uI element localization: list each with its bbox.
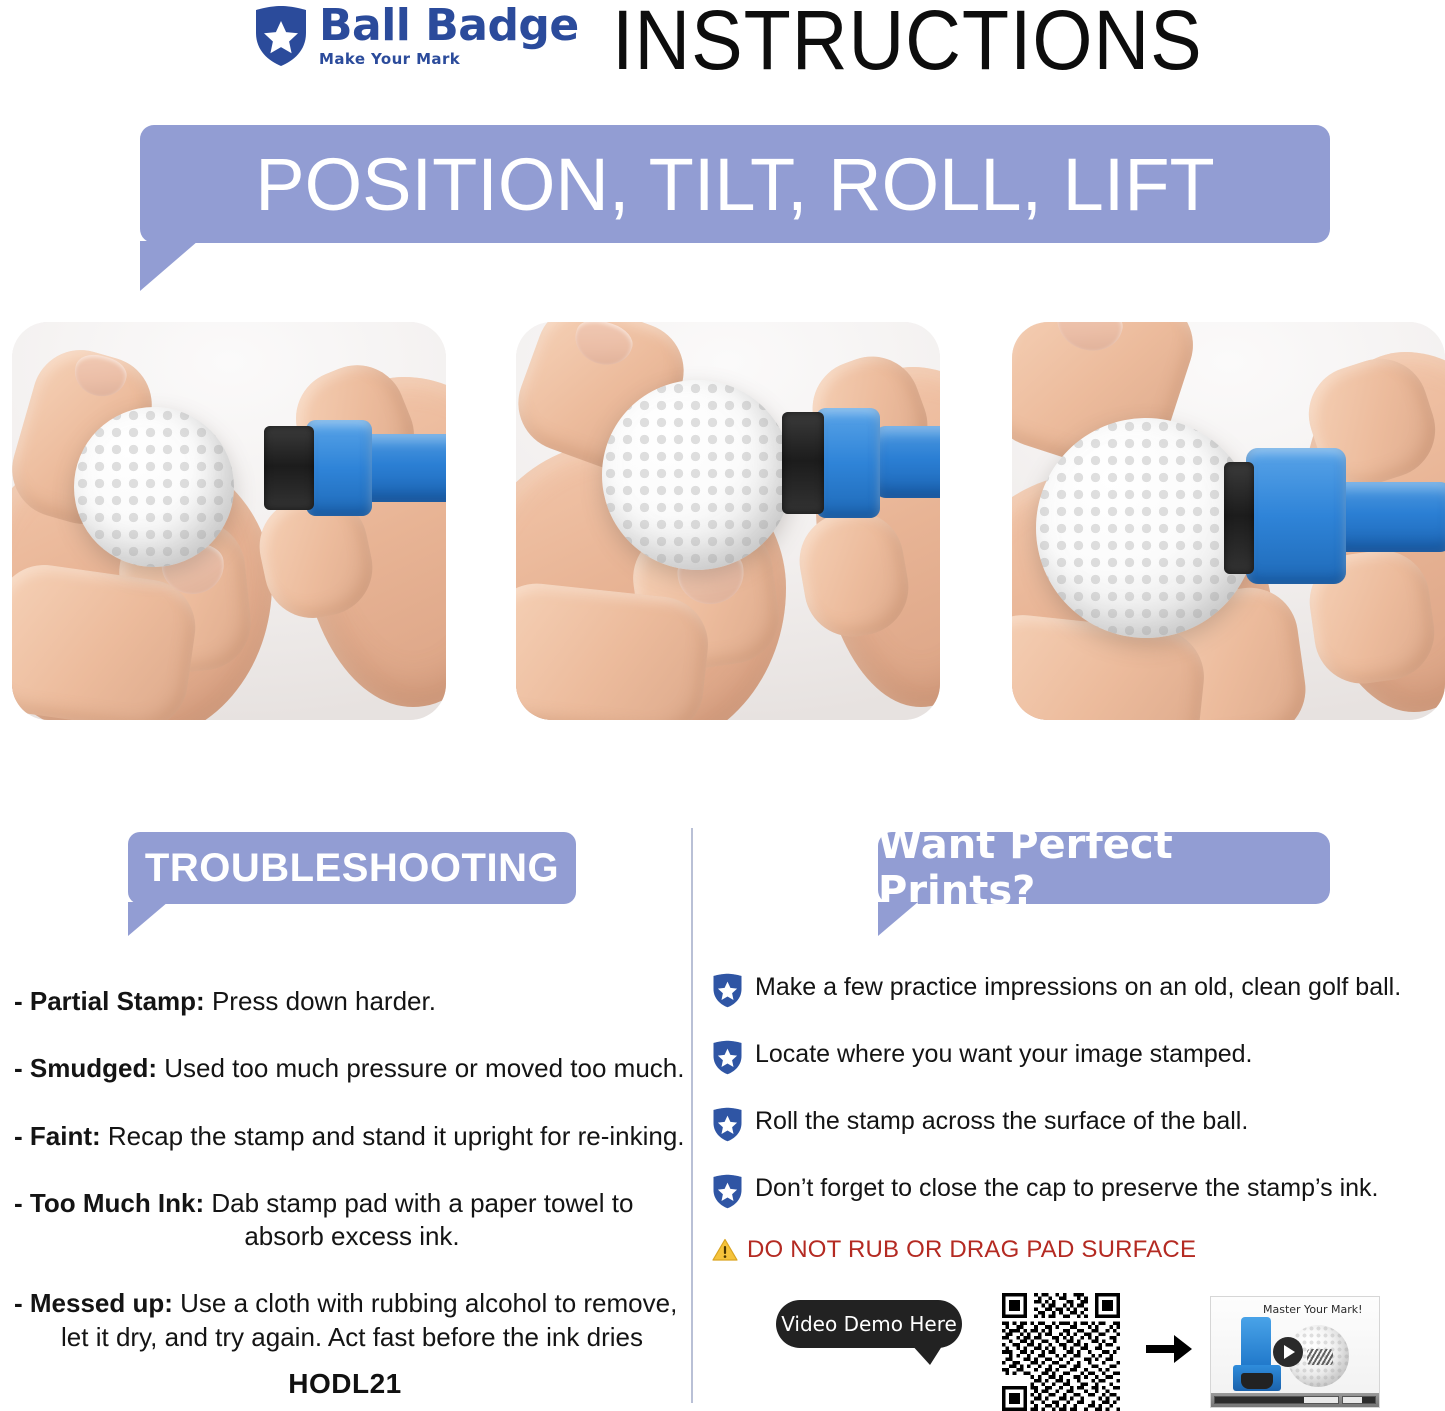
- troubleshooting-banner: TROUBLESHOOTING: [128, 832, 576, 904]
- tip-text: Roll the stamp across the surface of the…: [755, 1106, 1248, 1136]
- main-step-banner: POSITION, TILT, ROLL, LIFT: [140, 125, 1330, 243]
- stamp-head: [1246, 448, 1346, 584]
- list-item: - Partial Stamp: Press down harder.: [0, 985, 690, 1018]
- list-item: - Too Much Ink: Dab stamp pad with a pap…: [0, 1187, 690, 1254]
- list-item: - Smudged: Used too much pressure or mov…: [0, 1052, 690, 1085]
- stamp-handle: [1332, 482, 1445, 552]
- list-item: Make a few practice impressions on an ol…: [712, 972, 1445, 1008]
- thumbnail-ball-mark: [1307, 1349, 1333, 1365]
- troubleshooting-label: - Messed up:: [14, 1288, 173, 1318]
- brand-name: Ball Badge: [319, 4, 579, 48]
- bubble-tail: [910, 1343, 944, 1365]
- video-demo-bubble[interactable]: Video Demo Here: [776, 1300, 962, 1348]
- shield-star-icon: [712, 1040, 743, 1075]
- video-demo-label: Video Demo Here: [781, 1312, 957, 1336]
- tip-text: Make a few practice impressions on an ol…: [755, 972, 1401, 1002]
- tips-list: Make a few practice impressions on an ol…: [712, 972, 1445, 1264]
- banner-tail: [140, 241, 198, 291]
- troubleshooting-label: - Partial Stamp:: [14, 986, 205, 1016]
- list-item: Don’t forget to close the cap to preserv…: [712, 1173, 1445, 1209]
- list-item: Locate where you want your image stamped…: [712, 1039, 1445, 1075]
- troubleshooting-list: - Partial Stamp: Press down harder. - Sm…: [0, 985, 690, 1388]
- video-progress-track[interactable]: [1214, 1396, 1339, 1404]
- shield-star-icon: [712, 973, 743, 1008]
- video-thumbnail-title: Master Your Mark!: [1263, 1303, 1363, 1316]
- list-item: Roll the stamp across the surface of the…: [712, 1106, 1445, 1142]
- golf-ball: [74, 407, 234, 567]
- list-item: - Faint: Recap the stamp and stand it up…: [0, 1120, 690, 1153]
- stamp-ink-pad: [1224, 462, 1254, 574]
- golf-ball: [602, 380, 792, 570]
- brand-logo: Ball Badge Make Your Mark: [253, 4, 579, 67]
- troubleshooting-text: Use a cloth with rubbing alcohol to remo…: [173, 1288, 677, 1318]
- troubleshooting-text: Used too much pressure or moved too much…: [157, 1053, 684, 1083]
- warning-triangle-icon: [712, 1238, 738, 1262]
- video-scrub-bar[interactable]: [1211, 1393, 1379, 1407]
- troubleshooting-text-continued: let it dry, and try again. Act fast befo…: [61, 1322, 643, 1352]
- qr-code[interactable]: [1002, 1293, 1120, 1411]
- page-title: INSTRUCTIONS: [612, 0, 1203, 89]
- thumbnail-stamp-body: [1241, 1317, 1271, 1369]
- page-header: Ball Badge Make Your Mark INSTRUCTIONS: [0, 0, 1445, 95]
- stamp-head: [306, 420, 372, 516]
- troubleshooting-text: Press down harder.: [205, 986, 436, 1016]
- stamp-head: [816, 408, 880, 518]
- tip-text: Locate where you want your image stamped…: [755, 1039, 1253, 1069]
- product-code: HODL21: [0, 1368, 690, 1400]
- main-step-banner-label: POSITION, TILT, ROLL, LIFT: [255, 142, 1214, 227]
- shield-star-icon: [712, 1107, 743, 1142]
- troubleshooting-text: Dab stamp pad with a paper towel to: [204, 1188, 633, 1218]
- troubleshooting-label: - Smudged:: [14, 1053, 157, 1083]
- troubleshooting-heading: TROUBLESHOOTING: [145, 846, 559, 891]
- warning-row: DO NOT RUB OR DRAG PAD SURFACE: [712, 1236, 1445, 1264]
- golf-ball: [1036, 418, 1256, 638]
- troubleshooting-label: - Faint:: [14, 1121, 101, 1151]
- tips-heading: Want Perfect Prints?: [878, 822, 1330, 914]
- troubleshooting-text-continued: absorb excess ink.: [244, 1221, 459, 1251]
- video-demo-row: Video Demo Here: [712, 1290, 1445, 1402]
- shield-star-icon: [712, 1174, 743, 1209]
- banner-tail: [128, 902, 168, 936]
- warning-text: DO NOT RUB OR DRAG PAD SURFACE: [747, 1236, 1196, 1264]
- troubleshooting-label: - Too Much Ink:: [14, 1188, 204, 1218]
- stamp-ink-pad: [782, 412, 824, 514]
- play-button-icon[interactable]: [1273, 1337, 1303, 1367]
- step-photo-3: [1012, 322, 1445, 720]
- tips-banner: Want Perfect Prints?: [878, 832, 1330, 904]
- video-volume-track[interactable]: [1342, 1396, 1376, 1404]
- step-photo-strip: [0, 322, 1445, 720]
- shield-star-icon: [253, 5, 309, 67]
- brand-tagline: Make Your Mark: [319, 52, 579, 67]
- stamp-handle: [874, 426, 940, 498]
- list-item: - Messed up: Use a cloth with rubbing al…: [0, 1287, 690, 1354]
- troubleshooting-text: Recap the stamp and stand it upright for…: [101, 1121, 685, 1151]
- stamp-ink-pad: [264, 426, 314, 510]
- video-thumbnail[interactable]: Master Your Mark!: [1210, 1296, 1380, 1408]
- instruction-sheet: Ball Badge Make Your Mark INSTRUCTIONS P…: [0, 0, 1445, 1407]
- tip-text: Don’t forget to close the cap to preserv…: [755, 1173, 1378, 1203]
- step-photo-1: [12, 322, 446, 720]
- troubleshooting-line: - Too Much Ink: Dab stamp pad with a pap…: [14, 1187, 690, 1220]
- video-arrow-icon: [1144, 1332, 1194, 1366]
- column-divider: [691, 828, 693, 1403]
- banner-tail: [878, 902, 918, 936]
- troubleshooting-line: - Messed up: Use a cloth with rubbing al…: [14, 1287, 690, 1320]
- step-photo-2: [516, 322, 940, 720]
- thumbnail-stamp-pad: [1241, 1373, 1273, 1389]
